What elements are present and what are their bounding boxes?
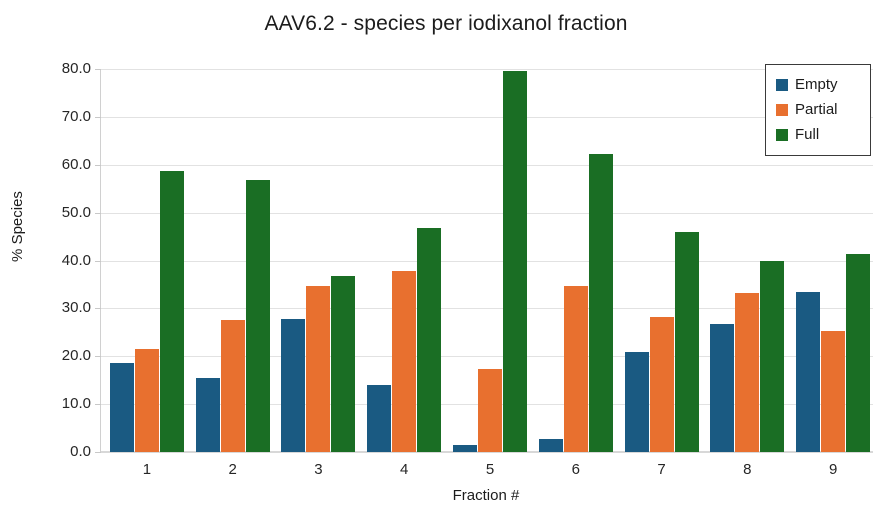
bar-empty-5[interactable] (453, 445, 477, 452)
bar-partial-9[interactable] (821, 331, 845, 452)
bar-group (539, 69, 613, 452)
chart-title: AAV6.2 - species per iodixanol fraction (0, 12, 892, 36)
y-tick-label: 50.0 (33, 204, 91, 221)
y-tick-mark (95, 356, 101, 357)
legend-swatch-partial (776, 104, 788, 116)
y-tick-label: 30.0 (33, 299, 91, 316)
bar-empty-8[interactable] (710, 324, 734, 452)
bar-full-2[interactable] (246, 180, 270, 452)
y-tick-label: 20.0 (33, 347, 91, 364)
bar-group (625, 69, 699, 452)
legend-label: Full (795, 126, 819, 143)
bar-group (453, 69, 527, 452)
legend-label: Empty (795, 76, 838, 93)
legend-label: Partial (795, 101, 838, 118)
y-tick-mark (95, 165, 101, 166)
bar-full-7[interactable] (675, 232, 699, 452)
y-tick-mark (95, 69, 101, 70)
bar-empty-6[interactable] (539, 439, 563, 452)
legend-swatch-empty (776, 79, 788, 91)
x-tick-label: 2 (196, 461, 270, 478)
bar-partial-6[interactable] (564, 286, 588, 452)
x-tick-label: 3 (281, 461, 355, 478)
x-axis-label: Fraction # (100, 487, 872, 504)
bar-partial-2[interactable] (221, 320, 245, 452)
bar-partial-3[interactable] (306, 286, 330, 452)
bar-full-6[interactable] (589, 154, 613, 452)
x-tick-label: 4 (367, 461, 441, 478)
bar-empty-2[interactable] (196, 378, 220, 452)
x-tick-label: 6 (539, 461, 613, 478)
bar-empty-1[interactable] (110, 363, 134, 452)
plot-area: 0.010.020.030.040.050.060.070.080.012345… (100, 69, 873, 452)
y-tick-mark (95, 404, 101, 405)
bar-full-1[interactable] (160, 171, 184, 453)
y-tick-mark (95, 308, 101, 309)
bar-full-9[interactable] (846, 254, 870, 452)
y-tick-mark (95, 213, 101, 214)
bar-empty-7[interactable] (625, 352, 649, 452)
bar-partial-1[interactable] (135, 349, 159, 452)
y-tick-label: 40.0 (33, 252, 91, 269)
legend-item-empty[interactable]: Empty (776, 72, 862, 97)
bar-partial-7[interactable] (650, 317, 674, 452)
legend-item-full[interactable]: Full (776, 122, 862, 147)
y-tick-mark (95, 452, 101, 453)
bar-empty-9[interactable] (796, 292, 820, 452)
x-tick-label: 8 (710, 461, 784, 478)
bar-group (281, 69, 355, 452)
y-axis-label-text: % Species (9, 191, 26, 262)
bar-partial-4[interactable] (392, 271, 416, 452)
chart-legend: EmptyPartialFull (765, 64, 871, 156)
bar-full-5[interactable] (503, 71, 527, 452)
x-tick-label: 7 (625, 461, 699, 478)
x-tick-label: 1 (110, 461, 184, 478)
x-tick-label: 9 (796, 461, 870, 478)
bar-group (196, 69, 270, 452)
x-tick-label: 5 (453, 461, 527, 478)
y-tick-mark (95, 261, 101, 262)
bar-empty-4[interactable] (367, 385, 391, 452)
bar-partial-5[interactable] (478, 369, 502, 452)
y-tick-label: 80.0 (33, 60, 91, 77)
bar-group (367, 69, 441, 452)
bar-full-4[interactable] (417, 228, 441, 452)
bar-partial-8[interactable] (735, 293, 759, 452)
bar-empty-3[interactable] (281, 319, 305, 452)
y-tick-label: 0.0 (33, 443, 91, 460)
y-tick-label: 10.0 (33, 395, 91, 412)
y-axis-label: % Species (2, 0, 32, 452)
y-tick-mark (95, 117, 101, 118)
legend-item-partial[interactable]: Partial (776, 97, 862, 122)
y-tick-label: 60.0 (33, 156, 91, 173)
legend-swatch-full (776, 129, 788, 141)
y-tick-label: 70.0 (33, 108, 91, 125)
chart-figure: AAV6.2 - species per iodixanol fraction … (0, 0, 892, 522)
bar-full-3[interactable] (331, 276, 355, 452)
bar-group (110, 69, 184, 452)
bar-full-8[interactable] (760, 261, 784, 452)
